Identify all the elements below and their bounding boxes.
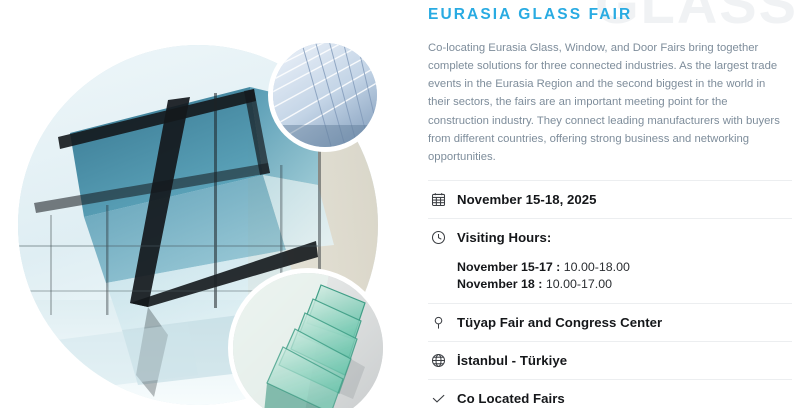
glass-facade-photo <box>273 43 377 147</box>
map-pin-icon <box>430 314 446 330</box>
info-row-colocated-fairs[interactable]: Co Located Fairs <box>428 380 792 408</box>
page-title: EURASIA GLASS FAIR <box>428 6 792 25</box>
hours-line: November 15-17 : 10.00-18.00 <box>457 259 792 277</box>
globe-icon <box>430 352 446 368</box>
glass-sheets-photo <box>233 273 383 408</box>
accent-image-circle-top <box>268 38 382 152</box>
colocated-fairs-label: Co Located Fairs <box>457 391 565 406</box>
clock-icon <box>430 229 446 245</box>
fair-info-card: GLASS EURASIA GLASS FAIR Co-locating Eur… <box>0 0 800 408</box>
hours-time: 10.00-17.00 <box>546 277 612 291</box>
visual-panel <box>0 0 420 408</box>
hours-day: November 15-17 : <box>457 260 560 274</box>
hours-day: November 18 : <box>457 277 542 291</box>
check-icon <box>430 390 446 406</box>
hours-label: Visiting Hours: <box>457 230 551 245</box>
date-label: November 15-18, 2025 <box>457 192 597 207</box>
content-panel: GLASS EURASIA GLASS FAIR Co-locating Eur… <box>420 0 800 408</box>
info-row-location[interactable]: İstanbul - Türkiye <box>428 342 792 379</box>
fair-description: Co-locating Eurasia Glass, Window, and D… <box>428 39 788 167</box>
venue-label: Tüyap Fair and Congress Center <box>457 315 662 330</box>
info-row-venue[interactable]: Tüyap Fair and Congress Center <box>428 304 792 341</box>
calendar-icon <box>430 191 446 207</box>
hours-line: November 18 : 10.00-17.00 <box>457 276 792 294</box>
info-row-date[interactable]: November 15-18, 2025 <box>428 181 792 218</box>
location-label: İstanbul - Türkiye <box>457 353 567 368</box>
visiting-hours-details: November 15-17 : 10.00-18.00 November 18… <box>428 256 792 303</box>
hours-time: 10.00-18.00 <box>564 260 630 274</box>
info-row-hours[interactable]: Visiting Hours: <box>428 219 792 256</box>
